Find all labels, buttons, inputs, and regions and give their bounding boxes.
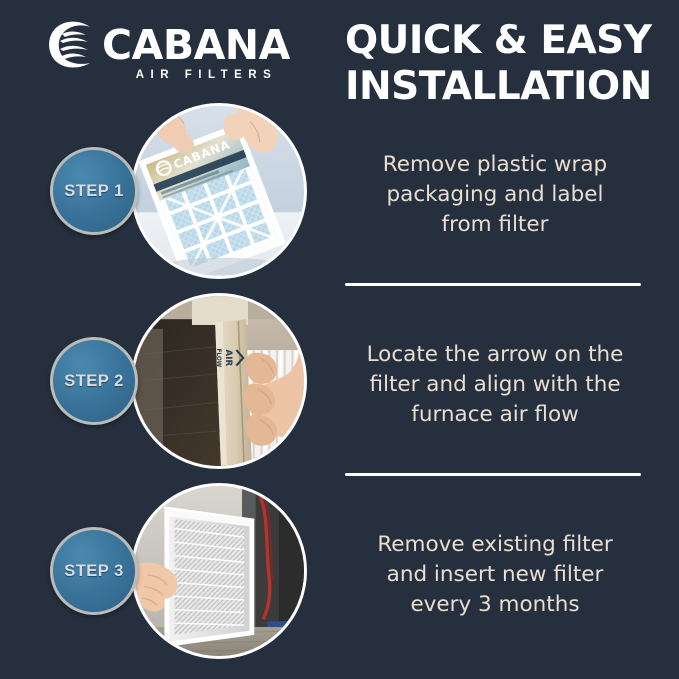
step-1-photo: CABANA	[131, 103, 307, 279]
step-1-text: Remove plastic wrap packaging and label …	[345, 100, 645, 290]
page-title: QUICK & EASY INSTALLATION	[345, 18, 645, 110]
step-1-line-1: Remove plastic wrap	[383, 150, 607, 180]
step-3-line-1: Remove existing filter	[377, 530, 612, 560]
step-2-line-3: furnace air flow	[367, 400, 624, 430]
step-2-photo: AIR FLOW	[131, 293, 307, 469]
step-3-badge-label: STEP 3	[64, 562, 124, 581]
headline-line-1: QUICK & EASY	[345, 18, 645, 64]
step-3-line-3: every 3 months	[377, 590, 612, 620]
divider-2	[345, 473, 641, 476]
step-1-badge: STEP 1	[50, 147, 138, 235]
step-row-3: STEP 3 Remove existing filter and insert…	[0, 480, 679, 670]
step-2-badge: STEP 2	[50, 337, 138, 425]
step-3-badge: STEP 3	[50, 527, 138, 615]
divider-1	[345, 283, 641, 286]
cabana-wave-c-icon	[46, 20, 100, 70]
step-2-line-1: Locate the arrow on the	[367, 340, 624, 370]
step-2-text: Locate the arrow on the filter and align…	[345, 290, 645, 480]
step-3-photo	[131, 483, 307, 659]
svg-text:AIR: AIR	[223, 349, 233, 366]
step-1-line-3: from filter	[383, 210, 607, 240]
brand-logo: CABANA AIR FILTERS	[46, 22, 311, 84]
brand-name: CABANA	[102, 22, 290, 68]
step-2-line-2: filter and align with the	[367, 370, 624, 400]
step-3-line-2: and insert new filter	[377, 560, 612, 590]
step-2-badge-label: STEP 2	[64, 372, 124, 391]
step-1-badge-label: STEP 1	[64, 182, 124, 201]
step-row-2: AIR FLOW	[0, 290, 679, 480]
step-1-line-2: packaging and label	[383, 180, 607, 210]
brand-tagline: AIR FILTERS	[46, 69, 311, 81]
infographic-page: CABANA AIR FILTERS QUICK & EASY INSTALLA…	[0, 0, 679, 679]
step-row-1: CABANA	[0, 100, 679, 290]
step-3-text: Remove existing filter and insert new fi…	[345, 480, 645, 670]
svg-text:FLOW: FLOW	[215, 348, 221, 367]
